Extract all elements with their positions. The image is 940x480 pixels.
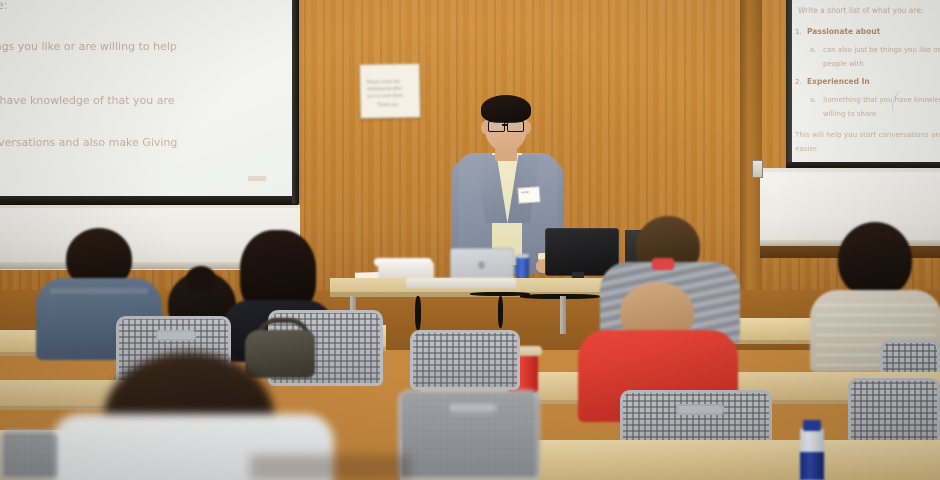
slide-item-1a-label-cont: people with [823,60,864,68]
wall-column [740,0,762,300]
wall-sign-erase-whiteboards: Please erase the whiteboards after you'v… [360,63,421,118]
cable-3 [415,296,421,330]
glasses-lens-right [507,121,524,132]
apple-logo-icon [478,261,485,269]
wall-sign-line-4: Thank you. [377,102,399,107]
cable-4 [498,296,503,328]
wall-sign-line-2: whiteboards after [367,86,402,92]
slide-item-1-marker: 1. [795,28,802,36]
presenter-ear-right [523,121,531,134]
slide-left-footer-mark [248,176,266,181]
student-denim-collar [50,288,148,294]
slide-left-line-4: t you have knowledge of that you are [0,94,175,107]
slide-item-1a-label: can also just be things you like or are … [823,46,940,54]
slide-item-2-label: Experienced In [807,77,870,86]
slide-item-2a-marker: a. [810,96,816,104]
water-bottle-label [800,452,824,480]
student-bun-knot [186,266,216,292]
presenter-hair [481,95,531,123]
projection-screen-left: hat you are: t e things you like or are … [0,0,298,200]
projection-screen-right: Write a short list of what you are: 1. P… [790,0,940,166]
chair-handle[interactable] [156,330,196,341]
slide-closing-line-1: This will help you start conversations a… [795,130,940,139]
backpack [245,330,315,378]
slide-left-line-1: hat you are: [0,0,8,12]
slide-left-line-6: rt conversations and also make Giving [0,136,177,149]
chair-front-left[interactable] [0,430,58,480]
student-hoodie-collar-accent [652,258,674,270]
chair-front-center[interactable] [398,390,540,480]
presenter-name-badge: NAME [517,186,540,203]
podium-leg-right [560,296,566,334]
slide-heading: Write a short list of what you are: [798,6,923,15]
water-bottle-cap [803,420,821,431]
student-puffer-head [838,222,912,298]
slide-left-line-3: e things you like or are willing to help [0,40,177,53]
keyboard [406,278,516,288]
slide-item-2a-label-cont: willing to share [823,110,876,118]
slide-closing-line-2: easier. [795,144,819,153]
classroom-photo: hat you are: t e things you like or are … [0,0,940,480]
screen-right-side-frame [786,0,792,170]
slide-item-1-label: Passionate about [807,27,880,36]
screen-left-bottom-frame [0,196,298,205]
floor-shadow [250,455,410,480]
glasses-icon [488,121,505,132]
chair-handle[interactable] [448,402,496,413]
drink-can-top [516,254,529,258]
glasses-bridge [502,124,507,126]
wall-sign-line-1: Please erase the [367,79,400,85]
wall-switch-plate[interactable] [752,160,763,178]
wall-sign-line-3: you've used them. [367,93,404,99]
chair-handle[interactable] [676,404,724,415]
slide-item-2a-label: Something that you have knowledge of tha… [823,96,940,104]
screen-left-side-edge [292,0,299,204]
chair-mid-center[interactable] [410,330,520,390]
slide-item-2-marker: 2. [795,78,802,86]
slide-item-1a-marker: a. [810,46,816,54]
